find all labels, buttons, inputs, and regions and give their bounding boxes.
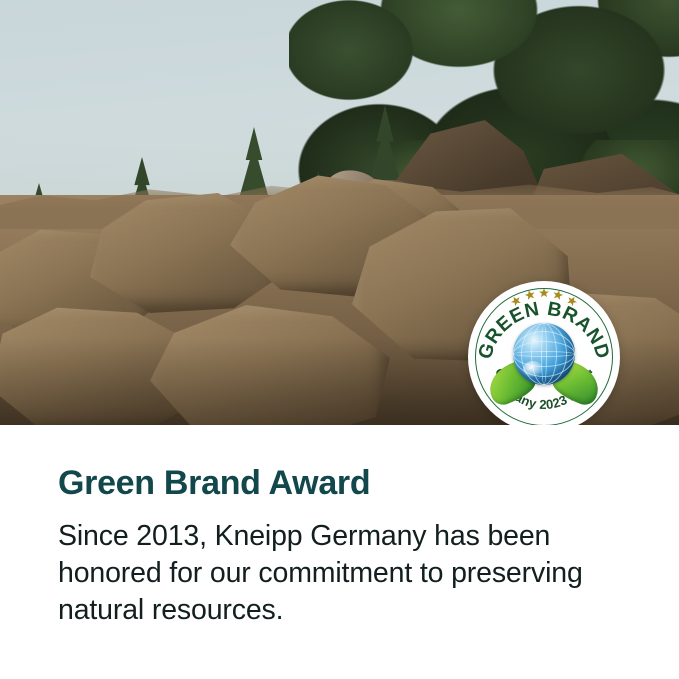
globe-icon: [513, 323, 575, 385]
content-section: Green Brand Award Since 2013, Kneipp Ger…: [0, 425, 679, 679]
green-brand-award-card: GREEN BRAND Germany 2023 / 2024: [0, 0, 679, 679]
description-line: natural resources.: [58, 592, 658, 629]
hero-image: GREEN BRAND Germany 2023 / 2024: [0, 0, 679, 425]
description-line: honored for our commitment to preserving: [58, 555, 658, 592]
description-text: Since 2013, Kneipp Germany has been hono…: [58, 518, 658, 629]
boulder: [150, 305, 390, 425]
description-line: Since 2013, Kneipp Germany has been: [58, 518, 658, 555]
green-brand-award-badge: GREEN BRAND Germany 2023 / 2024: [468, 281, 620, 425]
page-title: Green Brand Award: [58, 466, 370, 502]
